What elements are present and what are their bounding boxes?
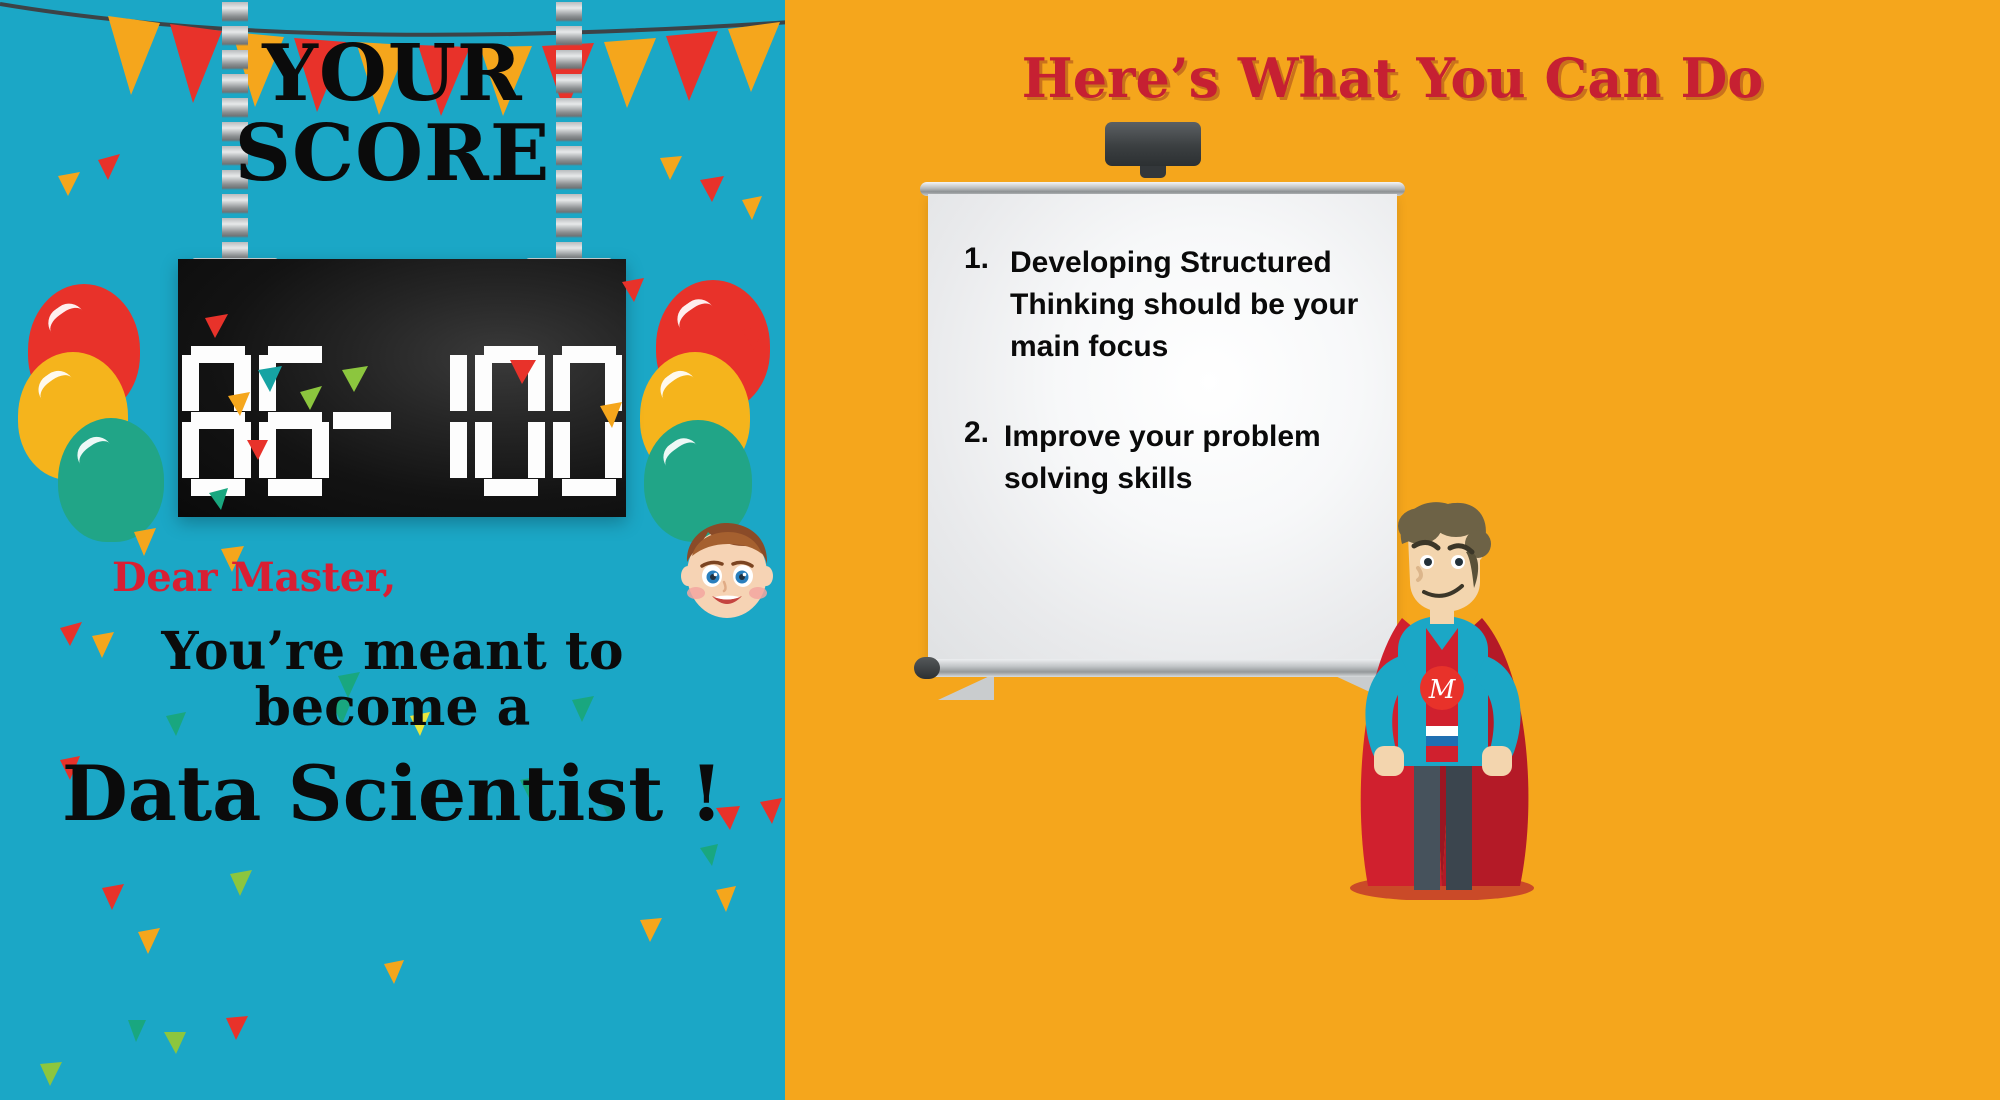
seven-segment-dash [333,346,395,496]
message-line-1: You’re meant to [0,624,785,680]
action-list: 1. Developing Structured Thinking should… [964,242,1364,510]
balloon-shine [670,293,721,343]
superhero-mascot: M [1332,500,1552,890]
page-title: YOUR SCORE [0,34,785,194]
list-item: 2. Improve your problem solving skills [964,416,1364,500]
list-item-number: 1. [964,242,1010,368]
projector-lens-icon [1140,166,1166,178]
balloon-shine [42,297,92,346]
title-line-2: SCORE [0,114,785,194]
balloon-teal-left [58,418,164,542]
balloon-shine [32,365,81,413]
balloon-shine [71,430,119,477]
seven-segment-digit [182,346,251,496]
title-line-1: YOUR [0,34,785,114]
boy-face-avatar [672,516,782,632]
chest-logo-text: M [1428,675,1457,705]
score-digital-display [178,337,626,505]
message-block: You’re meant to become a [0,624,785,736]
seven-segment-digit [553,346,622,496]
list-item-text: Improve your problem solving skills [1004,416,1364,500]
list-item-text: Developing Structured Thinking should be… [1010,242,1364,368]
score-result-slide: 86-100 [0,0,2000,1100]
list-item-number: 2. [964,416,1004,500]
right-panel-heading: Here’s What You Can Do [785,46,2000,110]
scoreboard-panel: 86-100 [178,259,626,517]
message-line-2: become a [0,680,785,736]
list-item: 1. Developing Structured Thinking should… [964,242,1364,368]
screen-leg-left [938,674,994,700]
balloon-shine [654,365,703,413]
balloon-shine [658,432,706,479]
left-panel: 86-100 [0,0,785,1100]
seven-segment-digit [475,346,544,496]
seven-segment-digit [398,346,467,496]
screen-knob-left [914,657,940,679]
seven-segment-digit [259,346,328,496]
projector-device [1105,122,1201,166]
outcome-text: Data Scientist ! [0,752,785,836]
salutation-text: Dear Master, [112,554,396,601]
screen-surface: 1. Developing Structured Thinking should… [928,194,1397,664]
